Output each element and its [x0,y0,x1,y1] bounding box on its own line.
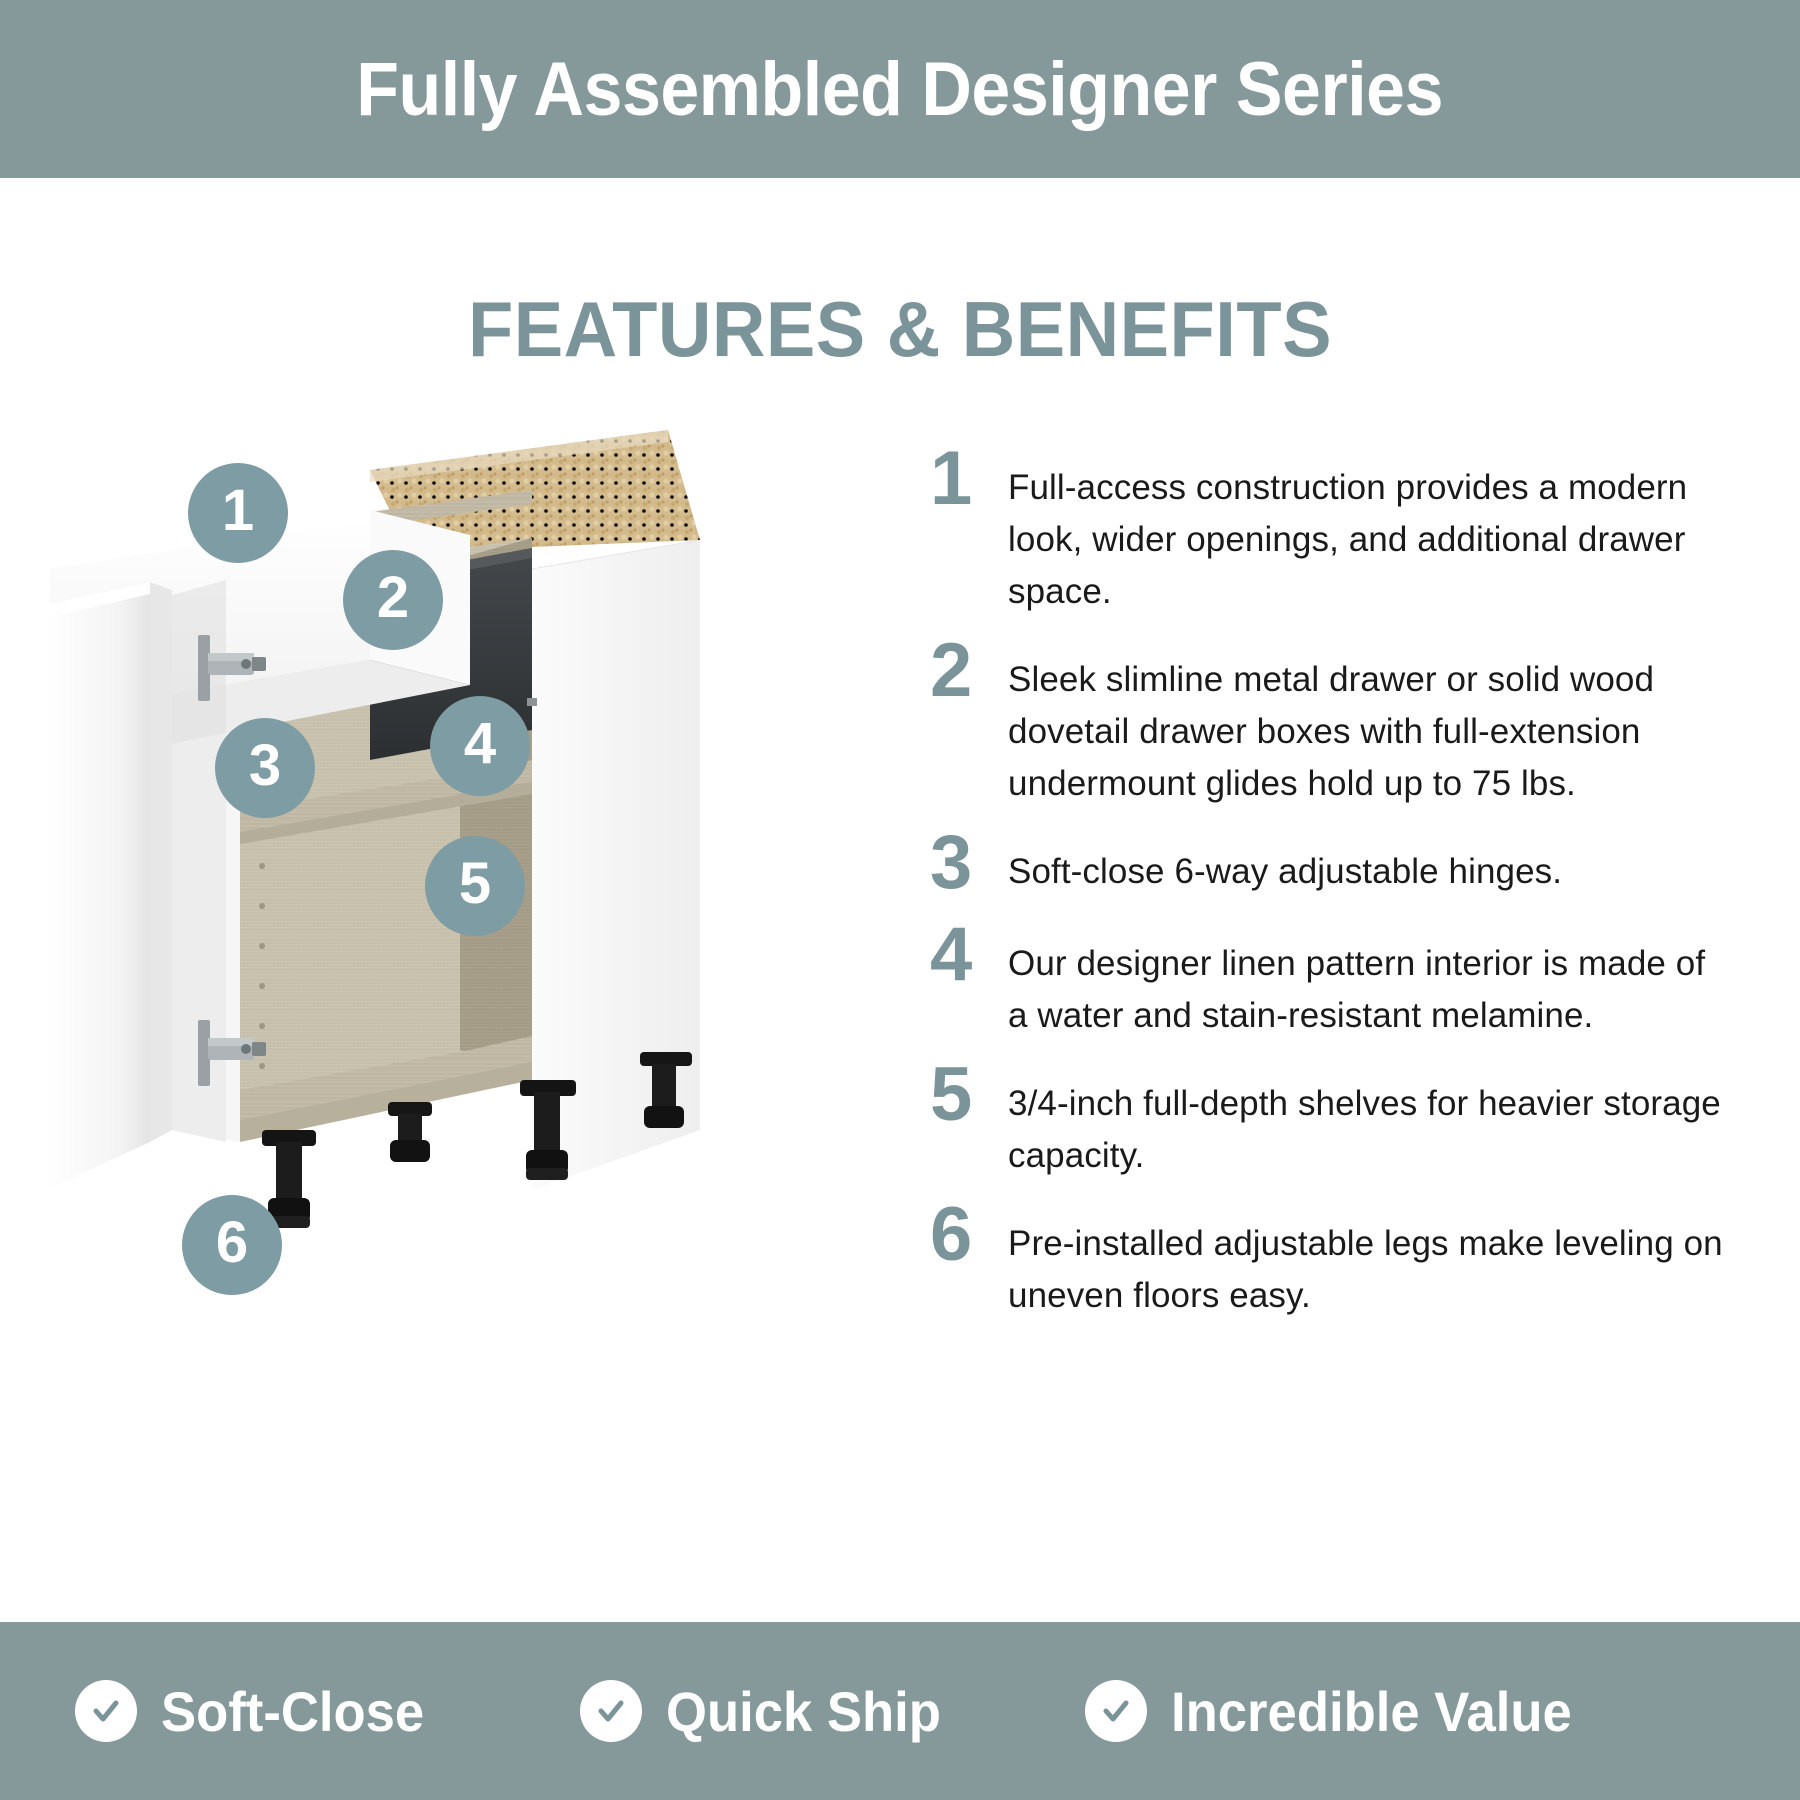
footer-badge-soft-close: Soft-Close [75,1679,441,1744]
feature-item-1: 1 Full-access construction provides a mo… [930,440,1730,618]
footer-bar: Soft-Close Quick Ship Incredible Value [0,1622,1800,1800]
feature-number: 3 [930,824,1008,902]
page-title: Fully Assembled Designer Series [357,46,1444,133]
header-bar: Fully Assembled Designer Series [0,0,1800,178]
footer-badge-label: Incredible Value [1171,1679,1572,1744]
callout-2[interactable]: 2 [343,550,443,650]
feature-number: 1 [930,440,1008,518]
footer-badge-incredible-value: Incredible Value [1085,1679,1597,1744]
feature-list: 1 Full-access construction provides a mo… [930,440,1730,1336]
feature-description: Our designer linen pattern interior is m… [1008,916,1730,1042]
feature-number: 2 [930,632,1008,710]
callout-4[interactable]: 4 [430,696,530,796]
check-circle-icon [1085,1680,1147,1742]
check-circle-icon [580,1680,642,1742]
feature-item-6: 6 Pre-installed adjustable legs make lev… [930,1196,1730,1322]
feature-description: Sleek slimline metal drawer or solid woo… [1008,632,1730,810]
section-heading: FEATURES & BENEFITS [45,284,1755,375]
callout-1[interactable]: 1 [188,463,288,563]
feature-number: 6 [930,1196,1008,1274]
feature-description: Full-access construction provides a mode… [1008,440,1730,618]
door-inner-face [150,582,172,1142]
feature-number: 4 [930,916,1008,994]
drawer-glide [527,698,537,706]
callout-6[interactable]: 6 [182,1195,282,1295]
callout-3[interactable]: 3 [215,718,315,818]
cabinet-door [46,582,150,1190]
feature-description: 3/4-inch full-depth shelves for heavier … [1008,1056,1730,1182]
feature-item-4: 4 Our designer linen pattern interior is… [930,916,1730,1042]
footer-badge-label: Quick Ship [666,1679,941,1744]
footer-badge-quick-ship: Quick Ship [580,1679,959,1744]
feature-number: 5 [930,1056,1008,1134]
feature-item-5: 5 3/4-inch full-depth shelves for heavie… [930,1056,1730,1182]
main-content: 1 2 3 4 5 6 1 Full-access construction p… [0,400,1800,1600]
feature-description: Soft-close 6-way adjustable hinges. [1008,824,1730,898]
product-image: 1 2 3 4 5 6 [40,430,800,1430]
feature-item-3: 3 Soft-close 6-way adjustable hinges. [930,824,1730,902]
feature-item-2: 2 Sleek slimline metal drawer or solid w… [930,632,1730,810]
callout-5[interactable]: 5 [425,836,525,936]
footer-badge-label: Soft-Close [161,1679,424,1744]
check-circle-icon [75,1680,137,1742]
adjustable-leg [388,1102,432,1162]
feature-description: Pre-installed adjustable legs make level… [1008,1196,1730,1322]
